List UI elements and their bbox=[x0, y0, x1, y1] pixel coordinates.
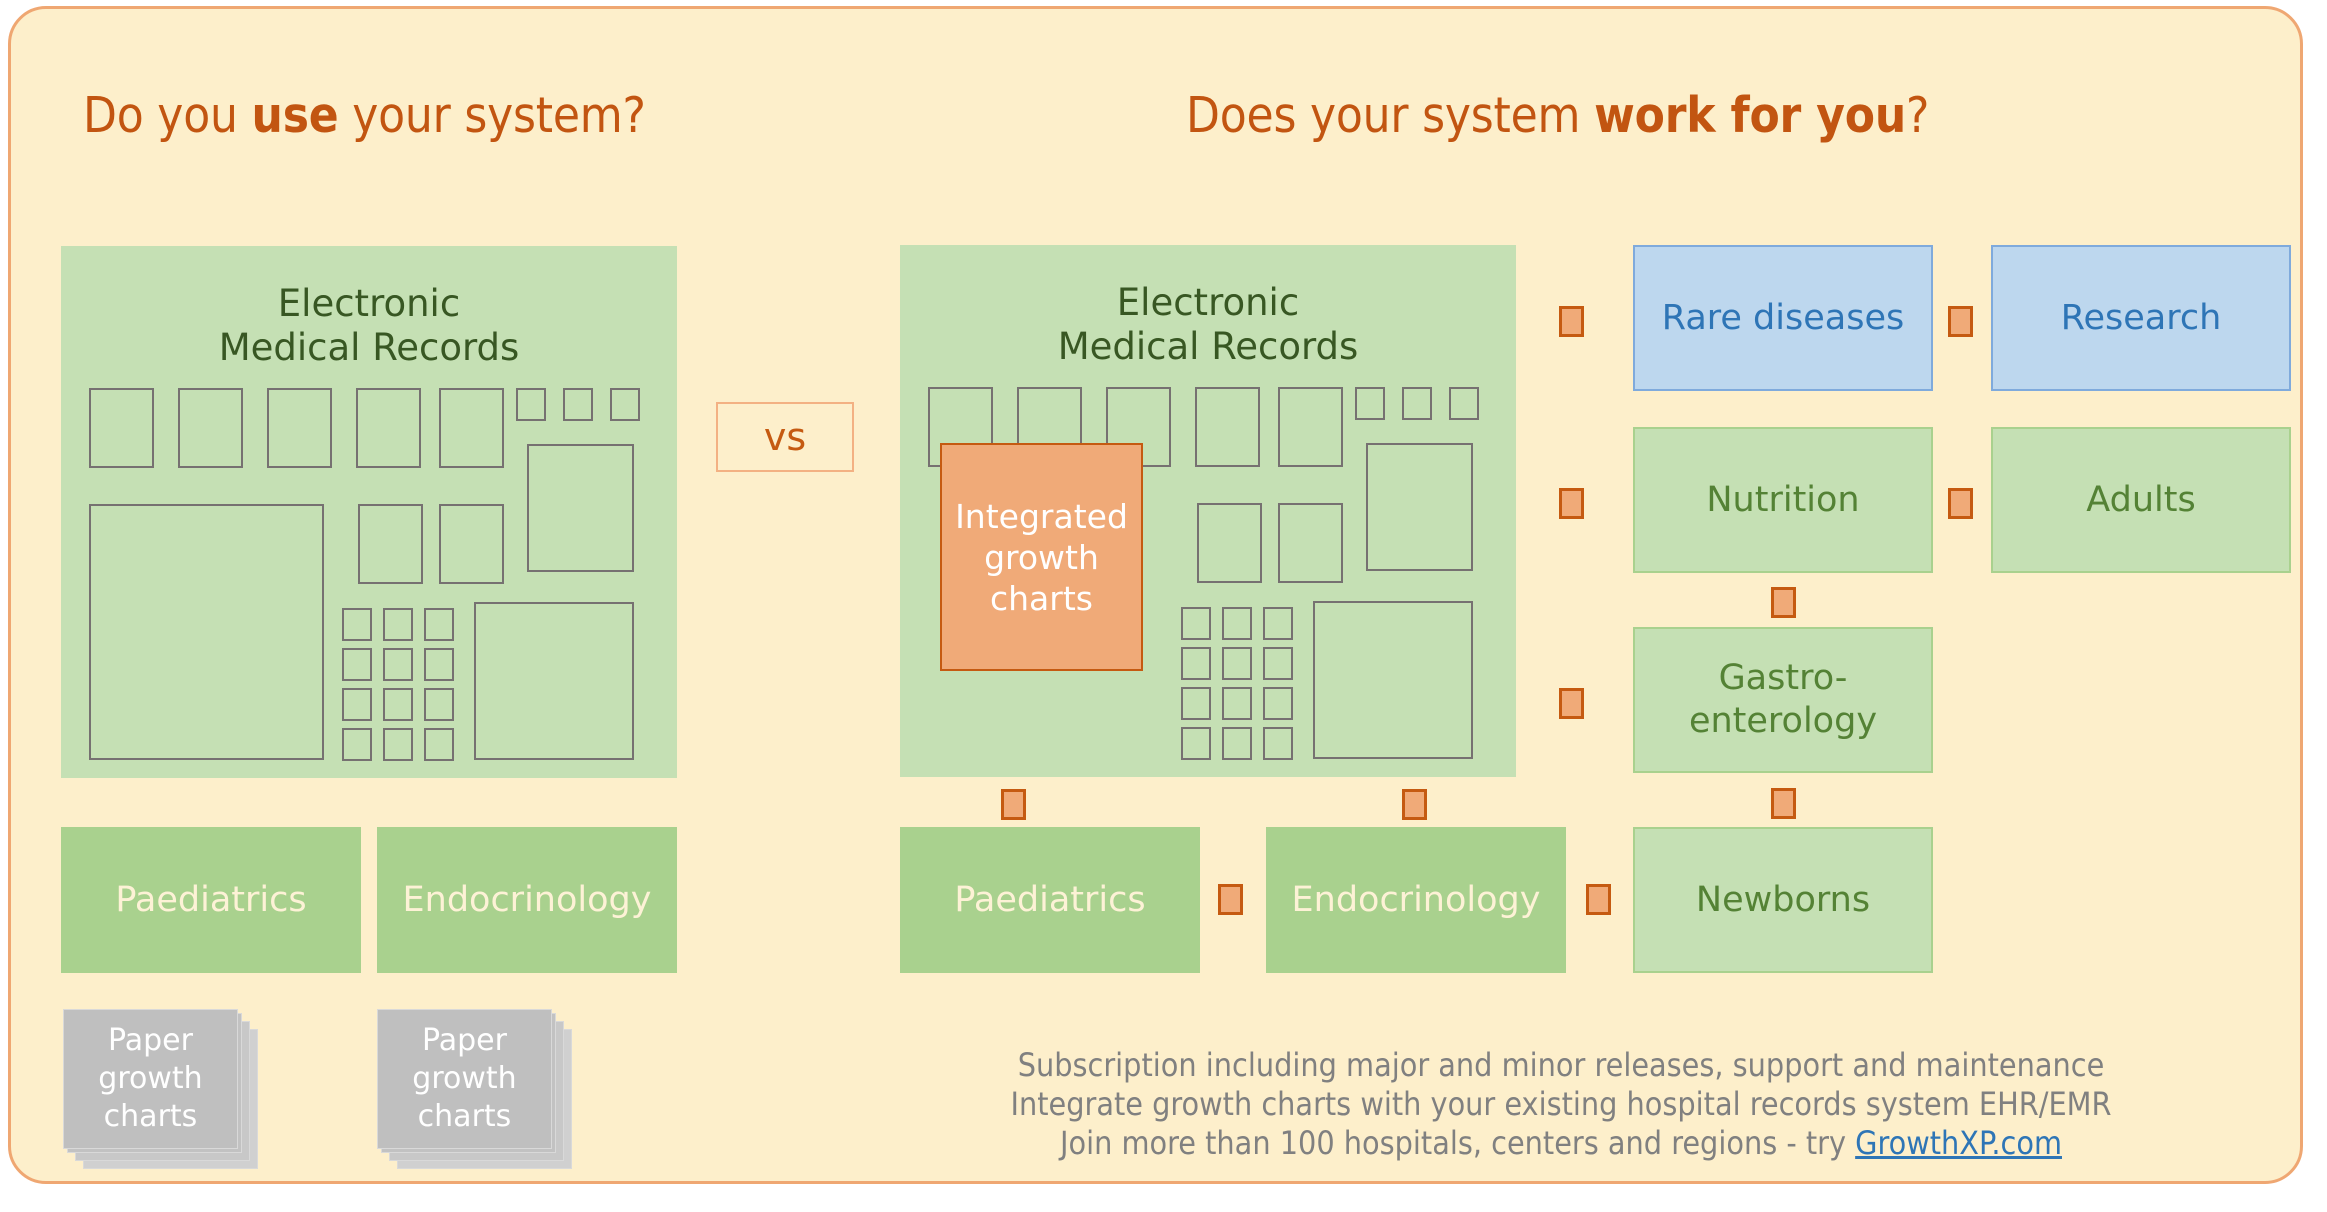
paper-growth-charts-stack: Paper growth charts bbox=[377, 1009, 572, 1169]
dept-label: Newborns bbox=[1696, 879, 1870, 922]
dept-label: Rare diseases bbox=[1662, 298, 1904, 338]
heading-right-suffix: ? bbox=[1906, 87, 1929, 144]
dept-endocrinology-middle: Endocrinology bbox=[1266, 827, 1566, 973]
emr-module-small bbox=[342, 728, 372, 761]
emr-module-small bbox=[383, 688, 413, 721]
footer-line-3-prefix: Join more than 100 hospitals, centers an… bbox=[1060, 1124, 1855, 1162]
emr-module bbox=[267, 388, 332, 468]
connector-emr-to-paediatrics bbox=[1001, 789, 1026, 820]
emr-module-small bbox=[424, 688, 454, 721]
connector-emr-to-nutrition bbox=[1559, 488, 1584, 519]
heading-left-suffix: your system? bbox=[338, 87, 645, 144]
dept-nutrition: Nutrition bbox=[1633, 427, 1933, 573]
igc-line1: Integrated bbox=[955, 497, 1128, 536]
emr-panel-left: ElectronicMedical Records bbox=[61, 246, 677, 778]
emr-module-small bbox=[1263, 607, 1293, 640]
paper-growth-charts-stack: Paper growth charts bbox=[63, 1009, 258, 1169]
emr-title-line1: Electronic bbox=[278, 282, 460, 325]
dept-label: Endocrinology bbox=[403, 880, 652, 920]
paper-label-line1: Paper bbox=[422, 1023, 507, 1058]
emr-module-small bbox=[1222, 647, 1252, 680]
emr-module-small bbox=[342, 608, 372, 641]
dept-label: Research bbox=[2061, 298, 2222, 338]
emr-module-small bbox=[1181, 607, 1211, 640]
vs-label: vs bbox=[764, 415, 806, 459]
heading-left-bold: use bbox=[252, 87, 339, 144]
dept-label-line2: enterology bbox=[1689, 701, 1877, 741]
paper-sheet-top: Paper growth charts bbox=[377, 1009, 552, 1149]
connector-emr-to-rare-diseases bbox=[1559, 306, 1584, 337]
emr-title-line1: Electronic bbox=[1117, 281, 1299, 324]
emr-module-small bbox=[424, 728, 454, 761]
emr-module bbox=[356, 388, 421, 468]
emr-module bbox=[1197, 503, 1262, 583]
paper-label-line1: Paper bbox=[108, 1023, 193, 1058]
dept-newborns: Newborns bbox=[1633, 827, 1933, 973]
footer-line-1: Subscription including major and minor r… bbox=[871, 1046, 2251, 1085]
emr-module-small bbox=[1222, 727, 1252, 760]
emr-module-large bbox=[1313, 601, 1473, 759]
dept-label: Nutrition bbox=[1706, 479, 1859, 522]
dept-label: Paediatrics bbox=[954, 880, 1145, 920]
connector-nutrition-to-gastro bbox=[1771, 587, 1796, 618]
emr-module-small bbox=[1263, 727, 1293, 760]
emr-module-small bbox=[1355, 387, 1385, 420]
connector-emr-to-endocrinology bbox=[1402, 789, 1427, 820]
connector-emr-to-gastro bbox=[1559, 688, 1584, 719]
dept-paediatrics-middle: Paediatrics bbox=[900, 827, 1200, 973]
emr-module-tall bbox=[1366, 443, 1473, 571]
emr-module-small bbox=[1402, 387, 1432, 420]
emr-module-small bbox=[342, 688, 372, 721]
dept-label: Adults bbox=[2086, 479, 2195, 522]
poster-card: Do you use your system? Does your system… bbox=[8, 6, 2303, 1184]
emr-module bbox=[1195, 387, 1260, 467]
emr-module-small bbox=[424, 648, 454, 681]
emr-panel-right: ElectronicMedical Records Integrated gro… bbox=[900, 245, 1516, 777]
dept-gastroenterology: Gastro- enterology bbox=[1633, 627, 1933, 773]
heading-right-bold: work for you bbox=[1594, 87, 1906, 144]
emr-module-small bbox=[383, 608, 413, 641]
emr-module bbox=[439, 388, 504, 468]
emr-module-large bbox=[89, 504, 324, 760]
emr-module-small bbox=[1263, 687, 1293, 720]
connector-paediatrics-to-endocrinology bbox=[1218, 884, 1243, 915]
footer-line-2: Integrate growth charts with your existi… bbox=[871, 1085, 2251, 1124]
emr-module-tall bbox=[527, 444, 634, 572]
emr-module-small bbox=[383, 648, 413, 681]
footer-line-3: Join more than 100 hospitals, centers an… bbox=[871, 1124, 2251, 1163]
growthxp-link[interactable]: GrowthXP.com bbox=[1855, 1124, 2062, 1162]
dept-adults: Adults bbox=[1991, 427, 2291, 573]
footer-text: Subscription including major and minor r… bbox=[871, 1046, 2251, 1163]
dept-paediatrics-left: Paediatrics bbox=[61, 827, 361, 973]
dept-label: Paediatrics bbox=[115, 880, 306, 920]
paper-label-line2: growth bbox=[412, 1061, 516, 1096]
emr-title-line2: Medical Records bbox=[1058, 325, 1359, 368]
emr-module-small bbox=[383, 728, 413, 761]
igc-line3: charts bbox=[990, 579, 1093, 618]
vs-badge: vs bbox=[716, 402, 854, 472]
emr-module-small bbox=[1222, 607, 1252, 640]
emr-module-small bbox=[1449, 387, 1479, 420]
page-title-right: Does your system work for you? bbox=[1186, 87, 1929, 144]
emr-module bbox=[358, 504, 423, 584]
emr-module-small bbox=[516, 388, 546, 421]
paper-sheet-top: Paper growth charts bbox=[63, 1009, 238, 1149]
emr-module bbox=[1278, 503, 1343, 583]
emr-title-left: ElectronicMedical Records bbox=[61, 282, 677, 370]
connector-rare-diseases-to-research bbox=[1948, 306, 1973, 337]
emr-module-small bbox=[1222, 687, 1252, 720]
dept-research: Research bbox=[1991, 245, 2291, 391]
emr-module bbox=[1278, 387, 1343, 467]
connector-endocrinology-to-newborns bbox=[1586, 884, 1611, 915]
emr-module bbox=[89, 388, 154, 468]
emr-module-small bbox=[610, 388, 640, 421]
heading-left-prefix: Do you bbox=[83, 87, 252, 144]
emr-module bbox=[178, 388, 243, 468]
dept-endocrinology-left: Endocrinology bbox=[377, 827, 677, 973]
dept-rare-diseases: Rare diseases bbox=[1633, 245, 1933, 391]
paper-label-line2: growth bbox=[98, 1061, 202, 1096]
dept-label-line1: Gastro- bbox=[1719, 658, 1848, 698]
paper-label-line3: charts bbox=[418, 1099, 512, 1134]
emr-module-small bbox=[424, 608, 454, 641]
paper-label-line3: charts bbox=[104, 1099, 198, 1134]
dept-label: Endocrinology bbox=[1292, 880, 1541, 920]
emr-module-small bbox=[1263, 647, 1293, 680]
heading-right-prefix: Does your system bbox=[1186, 87, 1594, 144]
page-title-left: Do you use your system? bbox=[83, 87, 646, 144]
emr-module-large bbox=[474, 602, 634, 760]
emr-module-small bbox=[342, 648, 372, 681]
emr-module-small bbox=[563, 388, 593, 421]
connector-nutrition-to-adults bbox=[1948, 488, 1973, 519]
integrated-growth-charts-block[interactable]: Integrated growth charts bbox=[940, 443, 1143, 671]
igc-line2: growth bbox=[984, 538, 1099, 577]
emr-module-small bbox=[1181, 727, 1211, 760]
emr-module-small bbox=[1181, 687, 1211, 720]
emr-module-small bbox=[1181, 647, 1211, 680]
emr-module bbox=[439, 504, 504, 584]
connector-gastro-to-newborns bbox=[1771, 788, 1796, 819]
emr-title-right: ElectronicMedical Records bbox=[900, 281, 1516, 369]
emr-title-line2: Medical Records bbox=[219, 326, 520, 369]
